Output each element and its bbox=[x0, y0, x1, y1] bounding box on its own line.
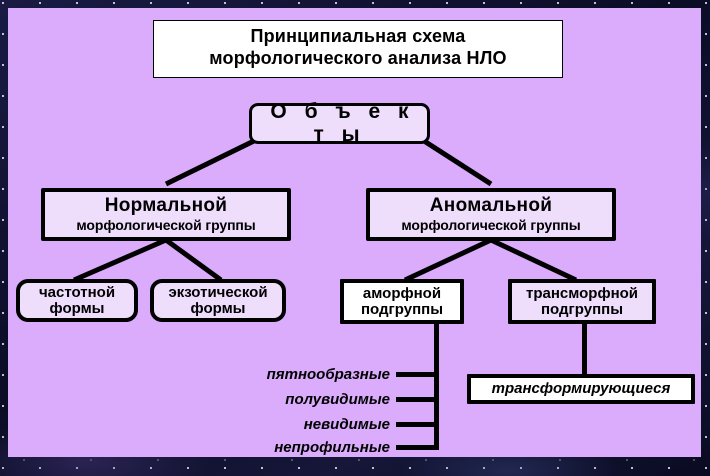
title-line-2: морфологического анализа НЛО bbox=[209, 48, 507, 70]
slide-frame: Принципиальная схема морфологического ан… bbox=[0, 0, 710, 476]
node-frequent-form[interactable]: частотной формы bbox=[16, 279, 138, 322]
node-amorphous-subgroup-line-2: подгруппы bbox=[361, 302, 443, 318]
node-objects-label: О б ъ е к т ы bbox=[252, 101, 427, 146]
node-frequent-form-line-1: частотной bbox=[39, 285, 115, 301]
amorphous-item-4-label: непрофильные bbox=[274, 439, 390, 456]
node-transmorphous-subgroup[interactable]: трансморфной подгруппы bbox=[508, 279, 656, 324]
amorphous-spine bbox=[434, 321, 439, 448]
slide-title: Принципиальная схема морфологического ан… bbox=[153, 20, 563, 78]
amorphous-item-1-label: пятнообразные bbox=[267, 366, 390, 383]
amorphous-item-3[interactable]: невидимые bbox=[158, 416, 390, 433]
amorphous-stub-2 bbox=[396, 397, 439, 402]
node-objects[interactable]: О б ъ е к т ы bbox=[249, 103, 430, 144]
node-exotic-form[interactable]: экзотической формы bbox=[150, 279, 286, 322]
node-amorphous-subgroup[interactable]: аморфной подгруппы bbox=[340, 279, 464, 324]
amorphous-item-2-label: полувидимые bbox=[285, 391, 390, 408]
amorphous-item-4[interactable]: непрофильные bbox=[158, 439, 390, 456]
node-anomalous-group-title: Аномальной bbox=[430, 196, 552, 216]
amorphous-stub-3 bbox=[396, 422, 439, 427]
amorphous-item-1[interactable]: пятнообразные bbox=[158, 366, 390, 383]
node-transmorphous-subgroup-line-1: трансморфной bbox=[526, 286, 638, 302]
amorphous-stub-4 bbox=[396, 445, 439, 450]
node-transforming[interactable]: трансформирующиеся bbox=[467, 374, 695, 404]
node-anomalous-group-subtitle: морфологической группы bbox=[401, 218, 580, 233]
amorphous-item-3-label: невидимые bbox=[304, 416, 390, 433]
node-amorphous-subgroup-line-1: аморфной bbox=[363, 286, 441, 302]
node-normal-group-title: Нормальной bbox=[105, 196, 228, 216]
node-transmorphous-subgroup-line-2: подгруппы bbox=[541, 302, 623, 318]
node-transforming-label: трансформирующиеся bbox=[492, 381, 671, 397]
title-line-1: Принципиальная схема bbox=[250, 26, 465, 48]
transmorphous-drop bbox=[582, 321, 587, 377]
node-anomalous-group[interactable]: Аномальной морфологической группы bbox=[366, 188, 616, 241]
amorphous-stub-1 bbox=[396, 372, 439, 377]
amorphous-item-2[interactable]: полувидимые bbox=[158, 391, 390, 408]
node-normal-group-subtitle: морфологической группы bbox=[76, 218, 255, 233]
node-exotic-form-line-2: формы bbox=[191, 301, 246, 317]
node-normal-group[interactable]: Нормальной морфологической группы bbox=[41, 188, 291, 241]
node-exotic-form-line-1: экзотической bbox=[168, 285, 267, 301]
diagram-canvas: Принципиальная схема морфологического ан… bbox=[8, 8, 701, 457]
node-frequent-form-line-2: формы bbox=[50, 301, 105, 317]
